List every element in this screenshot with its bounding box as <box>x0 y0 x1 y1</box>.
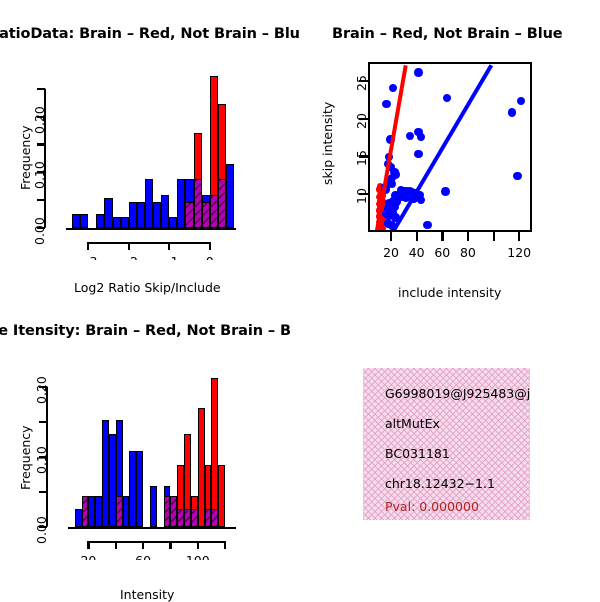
histogram-bar <box>113 217 121 228</box>
histogram-bar-overlap <box>211 509 218 527</box>
histogram-bar <box>88 496 95 527</box>
histogram-bar-overlap <box>116 496 123 527</box>
histogram-bar-overlap <box>170 496 177 527</box>
histogram-bar-overlap <box>184 509 191 527</box>
scatter-point <box>382 100 390 108</box>
y-axis-tick <box>39 491 47 493</box>
histogram-bar-overlap <box>177 509 184 527</box>
y-axis-tick <box>37 88 45 90</box>
histogram-bar <box>80 214 88 228</box>
scatter-point <box>384 219 392 227</box>
x-axis-tick-label: 120 <box>499 245 539 260</box>
x-axis-tick <box>87 242 89 250</box>
histogram-bar <box>129 202 137 228</box>
histogram-bar <box>150 486 157 527</box>
y-axis-tick-label: 10 <box>354 188 369 204</box>
y-axis-tick-label: 20 <box>354 113 369 129</box>
x-axis-tick-label: 0 <box>190 254 230 260</box>
histogram-bar-overlap <box>191 509 198 527</box>
baseline <box>66 228 236 230</box>
scatter-point <box>508 108 516 116</box>
scatter-point <box>406 132 414 140</box>
info-gene-id: G6998019@J925483@j_ <box>385 386 530 401</box>
scatter-point <box>414 150 422 158</box>
x-axis-tick <box>224 541 226 549</box>
histogram-bar <box>104 198 112 228</box>
panel-ratio-plotarea: 0.000.100.20−3−2−10 <box>0 0 300 260</box>
y-axis-tick <box>39 421 47 423</box>
y-axis-tick-label: 0.00 <box>34 516 49 544</box>
scatter-point <box>417 196 425 204</box>
info-event-type: altMutEx <box>385 416 440 431</box>
gene-info-box: G6998019@J925483@j_ altMutEx BC031181 ch… <box>363 368 530 520</box>
histogram-bar-overlap <box>194 179 202 228</box>
y-axis-tick-label: 15 <box>354 151 369 167</box>
panel-ratio-xlabel: Log2 Ratio Skip/Include <box>74 280 221 295</box>
histogram-bar <box>95 496 102 527</box>
scatter-point <box>423 221 431 229</box>
histogram-bar <box>169 217 177 228</box>
histogram-bar <box>218 465 225 527</box>
x-axis-spine <box>88 242 210 244</box>
histogram-bar <box>145 179 153 228</box>
scatter-point <box>417 133 425 141</box>
histogram-bar-overlap <box>202 202 210 228</box>
histogram-bar-overlap <box>210 195 218 228</box>
y-axis-tick-label: 0.00 <box>32 217 47 245</box>
scatter-point <box>443 94 451 102</box>
x-axis-tick <box>493 232 495 241</box>
histogram-bar <box>129 451 136 527</box>
histogram-bar-overlap <box>218 179 226 228</box>
histogram-bar <box>75 509 82 527</box>
x-axis-tick-label: 100 <box>178 553 218 560</box>
scatter-point <box>517 97 525 105</box>
scatter-point <box>441 187 449 195</box>
x-axis-tick-label: 60 <box>123 553 163 560</box>
x-axis-tick <box>169 541 171 549</box>
y-axis-tick-label: 0.10 <box>34 446 49 474</box>
x-axis-tick-label: 20 <box>68 553 108 560</box>
regression-line <box>389 65 492 232</box>
x-axis-tick <box>128 242 130 250</box>
x-axis-tick <box>467 232 469 241</box>
x-axis-tick-label: 80 <box>448 245 488 260</box>
histogram-bar <box>226 164 234 228</box>
panel-scatter-plotarea: 1015202520406080120 <box>300 0 600 265</box>
info-pvalue: Pval: 0.000000 <box>385 499 479 514</box>
histogram-bar <box>161 195 169 228</box>
x-axis-tick <box>87 541 89 549</box>
y-axis-tick-label: 0.20 <box>34 376 49 404</box>
panel-histogram-intensity: ne Itensity: Brain – Red, Not Brain – B … <box>0 305 300 600</box>
x-axis-tick-label: −1 <box>149 254 189 260</box>
y-axis-tick <box>37 199 45 201</box>
baseline <box>68 527 236 529</box>
info-coordinates: chr18.12432−1.1 <box>385 476 495 491</box>
panel-scatter-xlabel: include intensity <box>398 285 501 300</box>
histogram-bar <box>136 451 143 527</box>
y-axis-tick-label: 0.20 <box>32 106 47 134</box>
x-axis-tick <box>416 232 418 241</box>
histogram-bar <box>177 179 185 228</box>
histogram-bar <box>109 434 116 527</box>
panel-histogram-ratio: RatioData: Brain – Red, Not Brain – Blu … <box>0 0 300 305</box>
y-axis-tick-label: 25 <box>354 75 369 91</box>
histogram-bar <box>123 496 130 527</box>
info-accession: BC031181 <box>385 446 450 461</box>
x-axis-tick <box>518 232 520 241</box>
histogram-bar-overlap <box>164 496 171 527</box>
x-axis-tick-label: −2 <box>109 254 149 260</box>
histogram-bar <box>137 202 145 228</box>
x-axis-tick <box>168 242 170 250</box>
x-axis-tick <box>209 242 211 250</box>
histogram-bar-overlap <box>185 202 193 228</box>
histogram-bar-overlap <box>82 496 89 527</box>
scatter-point <box>389 84 397 92</box>
histogram-bar-overlap <box>205 509 212 527</box>
x-axis-tick <box>115 541 117 549</box>
y-axis-tick <box>37 143 45 145</box>
histogram-bar <box>153 202 161 228</box>
panel-intensity-plotarea: 0.000.100.202060100 <box>0 305 300 560</box>
histogram-bar <box>102 420 109 527</box>
x-axis-tick <box>197 541 199 549</box>
y-axis-tick-label: 0.10 <box>32 161 47 189</box>
scatter-point <box>513 172 521 180</box>
panel-scatter: Brain – Red, Not Brain – Blue skip inten… <box>300 0 600 305</box>
x-axis-tick <box>441 232 443 241</box>
x-axis-tick <box>142 541 144 549</box>
scatter-point <box>414 68 422 76</box>
x-axis-spine <box>88 541 225 543</box>
histogram-bar <box>121 217 129 228</box>
x-axis-tick <box>390 232 392 241</box>
histogram-bar <box>211 378 218 527</box>
histogram-bar <box>198 408 205 527</box>
scatter-frame <box>368 62 532 232</box>
x-axis-tick-label: −3 <box>68 254 108 260</box>
histogram-bar <box>72 214 80 228</box>
histogram-bar <box>96 214 104 228</box>
